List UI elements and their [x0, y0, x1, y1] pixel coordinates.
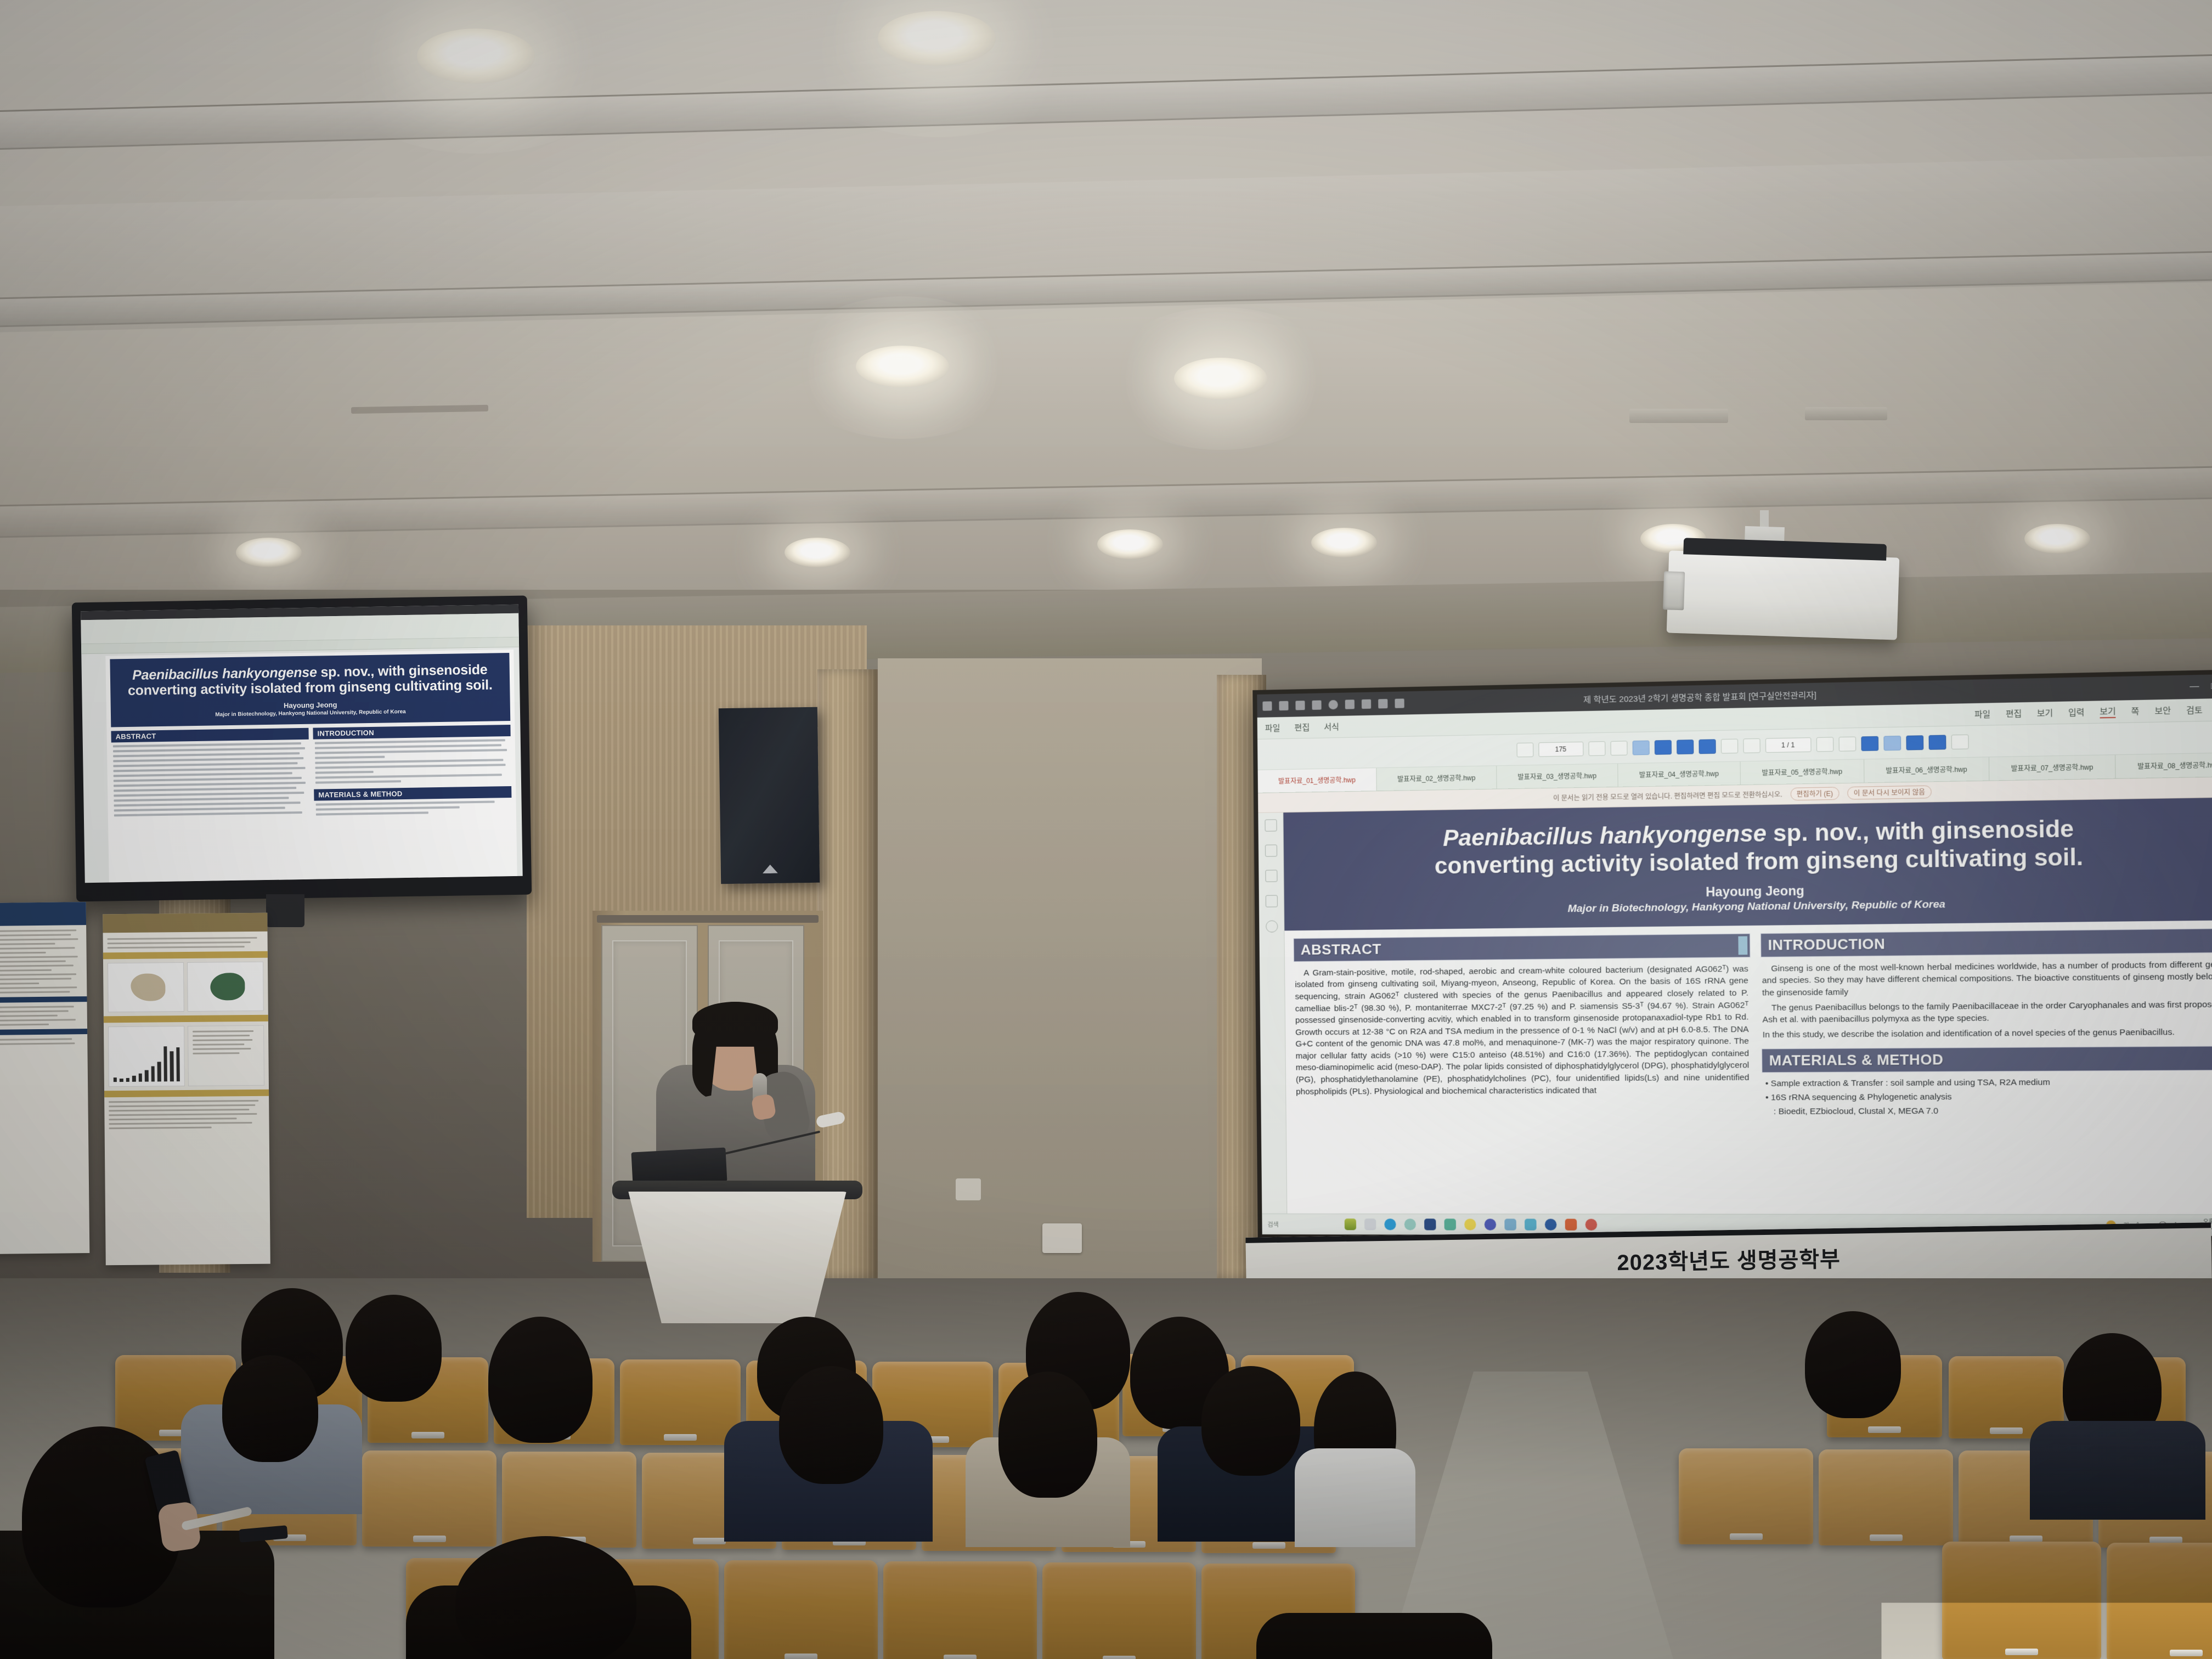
bar-chart-bars [113, 1043, 180, 1082]
document-tab[interactable]: 발표자료_07_생명공학.hwp [1989, 755, 2116, 780]
menu-item-view[interactable]: 보기 [2037, 707, 2053, 719]
word-icon[interactable] [1545, 1219, 1557, 1231]
projection-screen: 제 학년도 2023년 2학기 생명공학 종합 발표회 [연구실안전관리자] —… [1252, 669, 2212, 1240]
auditorium-seat[interactable] [1942, 1542, 2101, 1659]
poster-b-text-block [188, 1025, 264, 1086]
poster-b-header [103, 913, 267, 933]
poster-b-chart-row [108, 1025, 264, 1087]
widgets-icon[interactable] [1345, 1218, 1356, 1230]
view-mode-button[interactable] [1632, 740, 1649, 755]
ceiling-projector [1667, 550, 1900, 640]
poster-b-text-lines [188, 1026, 263, 1054]
poster-title-block: Paenibacillus hankyongense sp. nov., wit… [1283, 797, 2212, 930]
auditorium-seat[interactable] [724, 1560, 878, 1659]
minimize-button[interactable]: — [2190, 682, 2199, 692]
abstract-body: A Gram-stain-positive, motile, rod-shape… [1294, 957, 1752, 1098]
ceiling [0, 0, 2212, 614]
menu-item-review[interactable]: 검토 [2186, 704, 2203, 716]
first-page-button[interactable] [1720, 738, 1737, 753]
page-layout-button[interactable] [1610, 741, 1627, 755]
bookmark-icon[interactable] [1265, 844, 1277, 856]
diagram-shape [210, 973, 245, 1000]
auditorium-seat[interactable] [2107, 1543, 2212, 1659]
play-icon[interactable] [1345, 699, 1355, 709]
mini-abstract-text [111, 740, 310, 817]
grid-view-button[interactable] [1906, 735, 1923, 750]
poster-b-figure-specimen [108, 962, 184, 1012]
materials-item: : Bioedit, EZbiocloud, Clustal X, MEGA 7… [1765, 1103, 2212, 1119]
wall-outlet-plate[interactable] [956, 1178, 981, 1200]
door-top-rail [597, 915, 819, 923]
pdf-icon[interactable] [1565, 1219, 1577, 1231]
menu-item-page[interactable]: 쪽 [2131, 705, 2140, 717]
wall-plaster-right [878, 658, 1262, 1278]
new-document-icon[interactable] [1279, 701, 1288, 710]
notes-icon[interactable] [1464, 1218, 1476, 1230]
menu-item-security[interactable]: 보안 [2154, 704, 2171, 716]
split-view-button[interactable] [1928, 735, 1946, 749]
introduction-paragraph-2: The genus Paenibacillus belongs to the f… [1762, 998, 2212, 1026]
audience-shoulders-foreground [1256, 1613, 1492, 1659]
menu-item-file[interactable]: 파일 [1265, 722, 1280, 734]
menu-item-format-left[interactable]: 서식 [1324, 721, 1339, 733]
poster-a-header [0, 902, 86, 926]
poster-a-divider-2 [0, 1029, 87, 1035]
downlight-halo [785, 296, 1020, 439]
abstract-heading: ABSTRACT [1294, 933, 1751, 962]
hancom-office-icon[interactable] [1444, 1218, 1457, 1230]
mini-poster-col-left: ABSTRACT [111, 728, 310, 822]
chrome-browser-icon[interactable] [1404, 1218, 1416, 1230]
poster-a-text-2 [0, 1006, 87, 1026]
auditorium-seat[interactable] [1819, 1449, 1953, 1545]
window-controls[interactable]: — □ ✕ [2190, 681, 2212, 691]
ceiling-soffit-rear [0, 466, 2212, 538]
auditorium-seat[interactable] [1042, 1562, 1196, 1659]
zoom-in-button[interactable] [1588, 741, 1605, 756]
taskbar-search-label[interactable]: 검색 [1267, 1220, 1278, 1229]
single-page-button[interactable] [1654, 740, 1671, 754]
materials-item: • 16S rRNA sequencing & Phylogenetic ana… [1765, 1089, 2212, 1105]
projection-surface: 제 학년도 2023년 2학기 생명공학 종합 발표회 [연구실안전관리자] —… [1257, 674, 2212, 1236]
ceiling-downlight [1097, 529, 1163, 559]
document-sidebar-rail[interactable] [1258, 812, 1287, 1214]
edge-browser-icon[interactable] [1385, 1218, 1396, 1230]
wall-switch-plate[interactable] [1042, 1223, 1082, 1253]
window-title-text: 제 학년도 2023년 2학기 생명공학 종합 발표회 [연구실안전관리자] [1583, 689, 1816, 705]
document-tab[interactable]: 발표자료_08_생명공학.hwp [2115, 753, 2212, 778]
poster-a-text-3 [0, 1038, 87, 1045]
menu-item-active[interactable]: 보기 [2100, 705, 2116, 718]
mail-icon[interactable] [1505, 1218, 1517, 1230]
last-page-button[interactable] [1838, 736, 1856, 751]
projector-lens [1663, 571, 1685, 610]
ceiling-vent [1629, 409, 1728, 423]
auditorium-seat[interactable] [362, 1451, 496, 1547]
menu-item-edit-right[interactable]: 편집 [2006, 707, 2022, 719]
audience-shoulders [1295, 1448, 1415, 1547]
poster-b-text-bottom [104, 1100, 269, 1130]
page-thumbnail-icon[interactable] [1265, 819, 1277, 831]
poster-column-right: INTRODUCTION Ginseng is one of the most … [1760, 928, 2212, 1119]
settings-button[interactable] [1951, 734, 1968, 749]
auditorium-seat[interactable] [1679, 1448, 1813, 1544]
calendar-icon[interactable] [1424, 1218, 1436, 1230]
ceiling-downlight [1311, 528, 1377, 557]
prev-page-button[interactable] [1743, 738, 1760, 753]
auditorium-seat[interactable] [620, 1359, 741, 1445]
poster-columns: ABSTRACT A Gram-stain-positive, motile, … [1284, 920, 2212, 1120]
poster-a-text [0, 925, 87, 994]
downlight-halo [1103, 307, 1339, 450]
cloud-drive-icon[interactable] [1525, 1218, 1537, 1230]
presenter-hair-top [692, 1002, 778, 1041]
readonly-notice-text: 이 문서는 읽기 전용 모드로 열려 있습니다. 편집하려면 편집 모드로 전환… [1553, 789, 1782, 803]
ceiling-downlight [785, 538, 850, 567]
auditorium-seat[interactable] [502, 1452, 636, 1548]
introduction-paragraph-3: In the this study, we describe the isola… [1763, 1026, 2212, 1041]
abstract-paragraph: A Gram-stain-positive, motile, rod-shape… [1295, 963, 1750, 1098]
wall-speaker [719, 707, 820, 884]
poster-b-divider-2 [104, 1015, 268, 1023]
preview-icon[interactable] [1329, 699, 1338, 709]
poster-b-divider [103, 951, 268, 960]
app-logo-icon [1262, 701, 1272, 710]
taskbar-pinned-apps[interactable] [1345, 1218, 1598, 1231]
audience-head [346, 1295, 442, 1402]
audience-head [779, 1366, 883, 1484]
research-poster-board-a [0, 902, 89, 1254]
quick-access-toolbar[interactable] [1262, 698, 1404, 710]
document-tab[interactable]: 발표자료_02_생명공학.hwp [1376, 766, 1497, 791]
audience-head [488, 1317, 592, 1443]
outline-view-button[interactable] [1861, 736, 1878, 751]
poster-b-text [103, 932, 268, 949]
introduction-paragraph-1: Ginseng is one of the most well-known he… [1762, 958, 2212, 999]
facing-pages-button[interactable] [1677, 740, 1694, 754]
materials-list: • Sample extraction & Transfer : soil sa… [1762, 1070, 2212, 1119]
thumbnail-view-button[interactable] [1883, 736, 1901, 751]
document-body: Paenibacillus hankyongense sp. nov., wit… [1258, 797, 2212, 1214]
mini-introduction-text [313, 736, 511, 784]
introduction-body: Ginseng is one of the most well-known he… [1760, 952, 2212, 1041]
specimen-photo [131, 974, 165, 1001]
ceiling-downlight [2024, 524, 2090, 554]
poster-b-bar-chart [108, 1026, 185, 1087]
materials-heading: MATERIALS & METHOD [1762, 1046, 2212, 1073]
materials-item: • Sample extraction & Transfer : soil sa… [1765, 1075, 2212, 1091]
wall-display-mount [266, 894, 304, 927]
poster-b-figure-row [108, 962, 264, 1012]
poster-title-line1-rest: sp. nov., with ginsenoside [1767, 815, 2074, 847]
search-icon[interactable] [1266, 921, 1278, 933]
ceiling-downlight [236, 538, 302, 567]
attachment-icon[interactable] [1265, 870, 1277, 882]
zoom-level-field[interactable]: 175 [1538, 741, 1583, 757]
stop-icon[interactable] [1395, 698, 1404, 708]
document-tab[interactable]: 발표자료_05_생명공학.hwp [1741, 759, 1865, 785]
wall-display-screen: Paenibacillus hankyongense sp. nov., wit… [81, 605, 523, 883]
menu-item-file-right[interactable]: 파일 [1974, 708, 1990, 720]
poster-column-left: ABSTRACT A Gram-stain-positive, motile, … [1294, 933, 1752, 1120]
poster-species-name: Paenibacillus hankyongense [1443, 820, 1767, 851]
fit-width-button[interactable] [1699, 739, 1716, 754]
edit-mode-button[interactable]: 편집하기 (E) [1790, 787, 1839, 800]
undo-icon[interactable] [1362, 699, 1371, 708]
poster-a-divider [0, 996, 87, 1003]
mini-materials-text [314, 798, 511, 816]
mini-poster-columns: ABSTRACT INTRODUCTION [111, 725, 512, 821]
document-tab[interactable]: 발표자료_06_생명공학.hwp [1864, 757, 1989, 782]
audience-head [1201, 1366, 1300, 1476]
audience-head-foreground [455, 1536, 636, 1659]
annotate-icon[interactable] [1265, 895, 1277, 907]
document-tab[interactable]: 발표자료_03_생명공학.hwp [1497, 764, 1618, 788]
poster-page: Paenibacillus hankyongense sp. nov., wit… [1283, 797, 2212, 1214]
poster-b-divider-3 [104, 1090, 269, 1098]
file-explorer-icon[interactable] [1364, 1218, 1376, 1230]
audience-head [222, 1355, 318, 1462]
audience-shoulders [2030, 1421, 2205, 1520]
auditorium-seat[interactable] [883, 1561, 1037, 1659]
mini-poster-col-right: INTRODUCTION MATERIALS & METHOD [313, 725, 512, 819]
ceiling-vent [1805, 407, 1887, 420]
menu-item-input[interactable]: 입력 [2068, 706, 2085, 718]
introduction-heading: INTRODUCTION [1760, 928, 2212, 957]
audience-head [1805, 1311, 1901, 1418]
menubar-spacer [1353, 715, 1959, 726]
document-tab[interactable]: 발표자료_01_생명공학.hwp [1258, 768, 1377, 793]
dont-show-again-button[interactable]: 이 문서 다시 보이지 않음 [1847, 786, 1932, 800]
audience-head-foreground [22, 1426, 181, 1607]
mini-poster-title-block: Paenibacillus hankyongense sp. nov., wit… [110, 653, 510, 727]
research-poster-board-b [103, 913, 270, 1266]
page-number-field[interactable]: 1 / 1 [1765, 737, 1811, 753]
audience-head [998, 1372, 1097, 1498]
print-icon[interactable] [1312, 700, 1321, 709]
auditorium-photo: Paenibacillus hankyongense sp. nov., wit… [0, 0, 2212, 1659]
media-player-icon[interactable] [1585, 1219, 1598, 1231]
wall-display-poster: Paenibacillus hankyongense sp. nov., wit… [105, 650, 517, 883]
save-icon[interactable] [1295, 701, 1305, 710]
next-page-button[interactable] [1816, 737, 1833, 752]
menu-item-edit[interactable]: 편집 [1294, 721, 1310, 733]
teams-icon[interactable] [1485, 1218, 1497, 1230]
poster-b-figure-diagram [187, 962, 264, 1012]
wall-mounted-display[interactable]: Paenibacillus hankyongense sp. nov., wit… [72, 596, 532, 902]
document-tab[interactable]: 발표자료_04_생명공학.hwp [1618, 761, 1741, 787]
redo-icon[interactable] [1378, 699, 1387, 708]
zoom-out-button[interactable] [1516, 742, 1533, 757]
